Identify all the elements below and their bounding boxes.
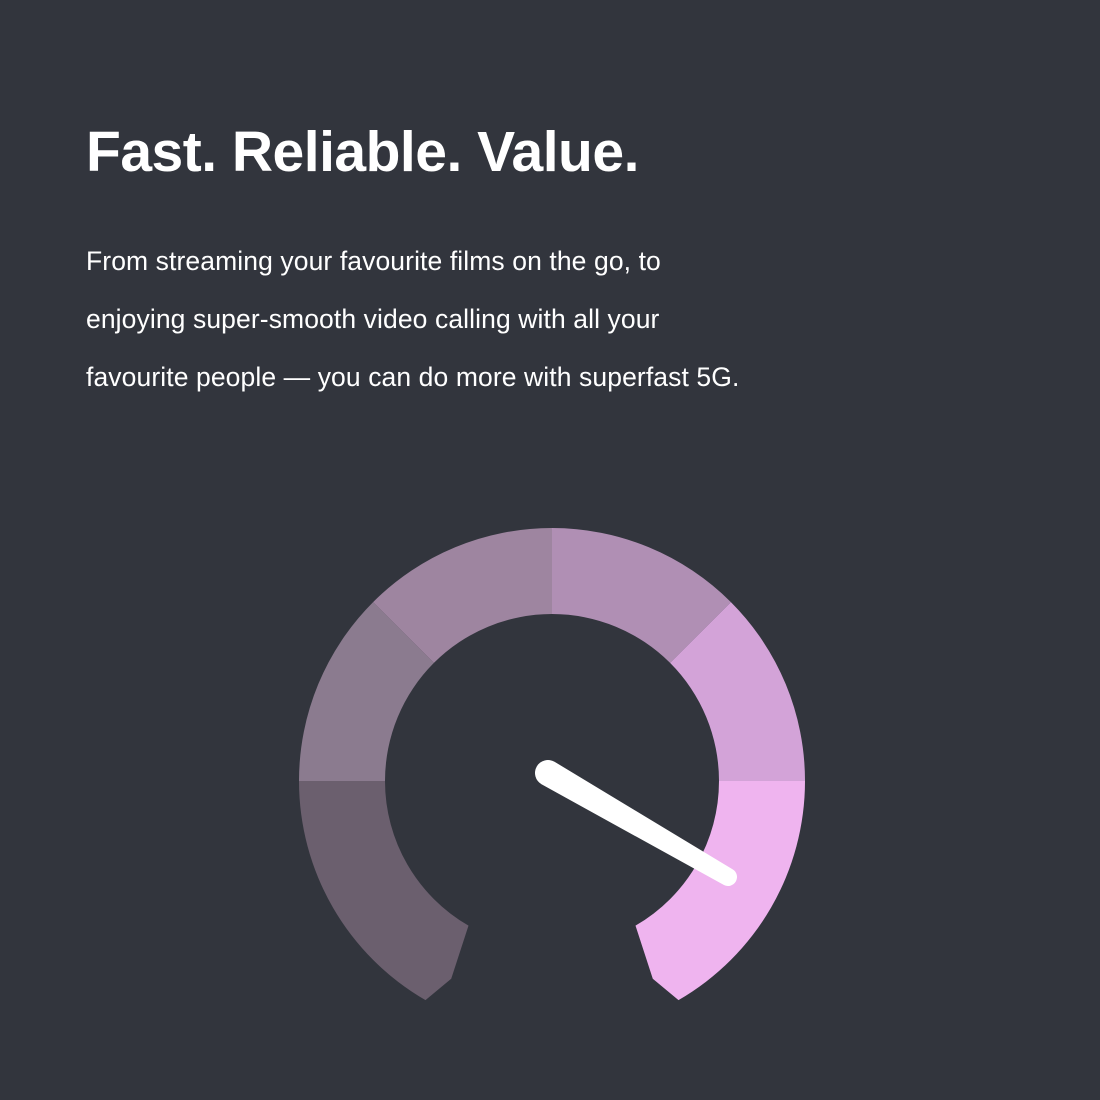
hero-description-line-2: enjoying super-smooth video calling with… [86, 290, 966, 348]
gauge-segment-6 [636, 781, 806, 1000]
page-title: Fast. Reliable. Value. [86, 120, 986, 186]
gauge-needle [530, 755, 742, 893]
gauge-segment-5 [670, 602, 805, 781]
gauge-segment-1 [299, 781, 469, 1000]
gauge-segment-group [299, 528, 805, 1000]
gauge-segment-4 [552, 528, 731, 663]
hero-description-line-3: favourite people — you can do more with … [86, 348, 966, 406]
hero-description-line-1: From streaming your favourite films on t… [86, 232, 966, 290]
promo-panel: Fast. Reliable. Value. From streaming yo… [0, 0, 1100, 1100]
gauge-needle-pointer [530, 755, 742, 893]
hero-description: From streaming your favourite films on t… [86, 186, 966, 406]
gauge-segment-2 [299, 602, 434, 781]
gauge-segment-3 [373, 528, 552, 663]
hero-text-block: Fast. Reliable. Value. From streaming yo… [86, 120, 986, 406]
